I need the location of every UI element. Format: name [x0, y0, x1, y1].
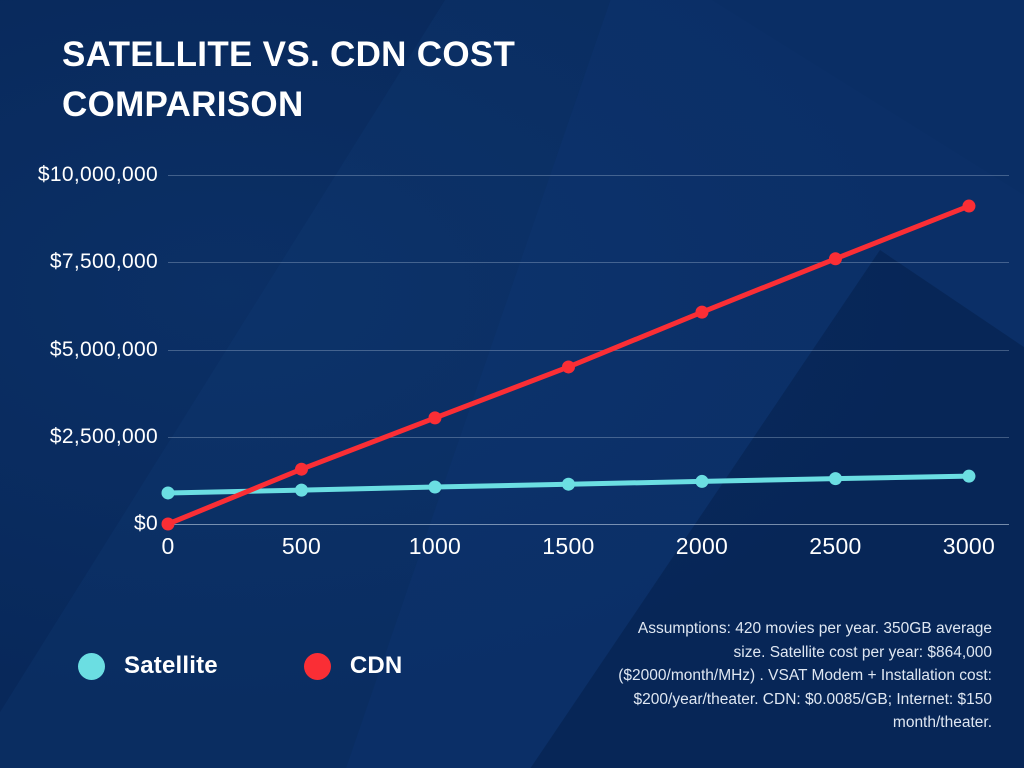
data-point-marker[interactable]	[295, 484, 308, 497]
legend-item-cdn[interactable]: CDN	[304, 652, 403, 680]
data-point-marker[interactable]	[695, 306, 708, 319]
data-point-marker[interactable]	[562, 478, 575, 491]
data-point-marker[interactable]	[962, 200, 975, 213]
legend-swatch-icon	[78, 653, 105, 680]
x-axis-tick-label: 2000	[676, 533, 728, 560]
data-point-marker[interactable]	[829, 472, 842, 485]
x-axis-tick-label: 2500	[809, 533, 861, 560]
data-point-marker[interactable]	[162, 518, 175, 531]
y-axis-tick-label: $5,000,000	[50, 338, 158, 362]
legend-swatch-icon	[304, 653, 331, 680]
legend-label: Satellite	[124, 652, 218, 680]
chart-series-layer	[168, 175, 1009, 524]
legend-label: CDN	[350, 652, 403, 680]
y-axis-tick-label: $10,000,000	[38, 163, 158, 187]
chart-legend: SatelliteCDN	[78, 652, 402, 680]
data-point-marker[interactable]	[962, 470, 975, 483]
data-point-marker[interactable]	[162, 486, 175, 499]
data-point-marker[interactable]	[562, 360, 575, 373]
x-axis-tick-label: 0	[161, 533, 174, 560]
y-axis-tick-label: $0	[134, 512, 158, 536]
data-point-marker[interactable]	[295, 463, 308, 476]
x-axis-line	[168, 524, 1009, 525]
data-point-marker[interactable]	[428, 411, 441, 424]
legend-item-satellite[interactable]: Satellite	[78, 652, 218, 680]
data-point-marker[interactable]	[829, 252, 842, 265]
assumptions-note: Assumptions: 420 movies per year. 350GB …	[608, 617, 992, 735]
x-axis-tick-label: 3000	[943, 533, 995, 560]
x-axis-tick-label: 1500	[542, 533, 594, 560]
slide-canvas: Satellite vs. CDN Cost Comparison $0$2,5…	[0, 0, 1024, 768]
page-title: Satellite vs. CDN Cost Comparison	[62, 30, 682, 129]
y-axis-tick-label: $2,500,000	[50, 425, 158, 449]
y-axis-tick-label: $7,500,000	[50, 250, 158, 274]
x-axis-tick-label: 500	[282, 533, 321, 560]
data-point-marker[interactable]	[695, 475, 708, 488]
data-point-marker[interactable]	[428, 481, 441, 494]
x-axis-tick-label: 1000	[409, 533, 461, 560]
chart-plot-area: $0$2,500,000$5,000,000$7,500,000$10,000,…	[168, 175, 1009, 524]
